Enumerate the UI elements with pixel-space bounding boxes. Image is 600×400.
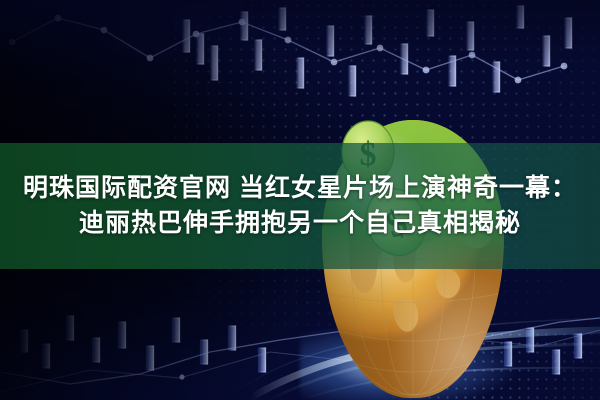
title-band: 明珠国际配资官网 当红女星片场上演神奇一幕： 迪丽热巴伸手拥抱另一个自己真相揭秘 bbox=[0, 143, 600, 269]
page-title-line-1: 明珠国际配资官网 当红女星片场上演神奇一幕： bbox=[23, 174, 577, 204]
news-banner-image: $ $ 明珠国际配资官网 当红女星片场上演神奇一幕： 迪丽热巴伸手拥抱另一个自己… bbox=[0, 0, 600, 400]
page-title-line-2: 迪丽热巴伸手拥抱另一个自己真相揭秘 bbox=[79, 209, 521, 239]
